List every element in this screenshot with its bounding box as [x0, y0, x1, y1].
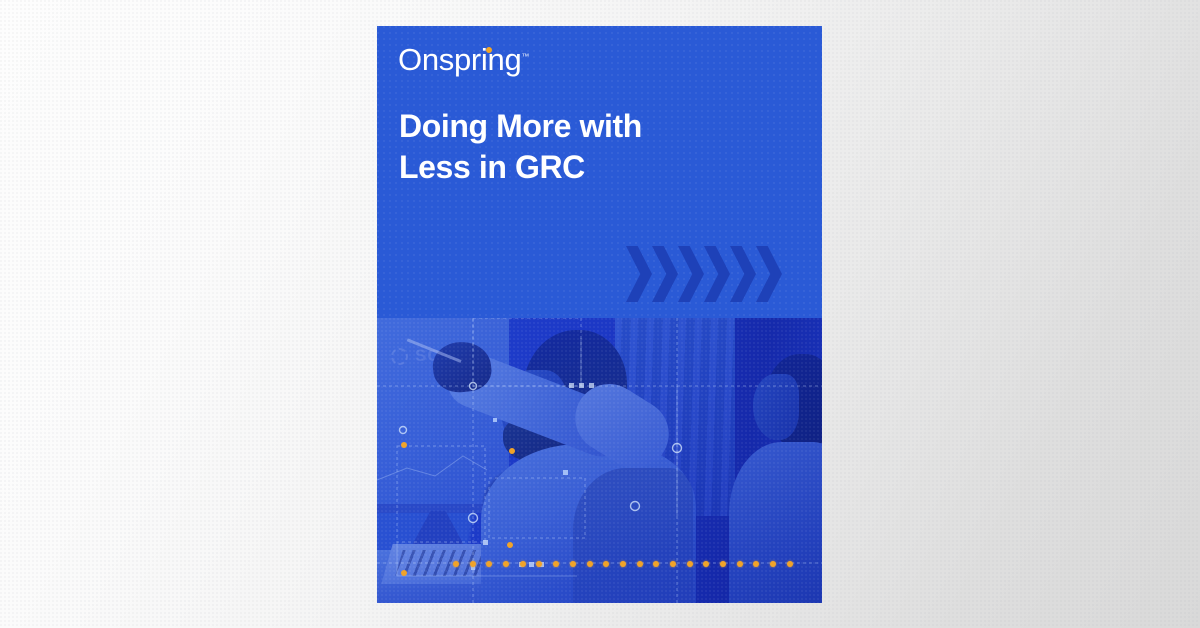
headline-line-1: Doing More with	[399, 106, 729, 147]
cover-photo-panel: SOC	[377, 318, 822, 603]
chevron-right-icon	[704, 246, 730, 302]
cover-header-panel: Onspring™ Doing More with Less in GRC	[377, 26, 822, 318]
logo-i-dot-icon	[486, 47, 493, 54]
onspring-logo: Onspring™	[398, 44, 529, 75]
ebook-cover-card[interactable]: Onspring™ Doing More with Less in GRC	[377, 26, 822, 603]
headline-line-2: Less in GRC	[399, 147, 729, 188]
chevron-right-icon	[626, 246, 652, 302]
trademark-symbol: ™	[521, 52, 529, 61]
chevron-right-icon	[678, 246, 704, 302]
chevron-right-icon	[652, 246, 678, 302]
logo-wordmark: Onspring	[398, 42, 521, 77]
chevron-right-icon	[730, 246, 756, 302]
chevron-arrows-graphic	[626, 246, 782, 302]
chevron-right-icon	[756, 246, 782, 302]
cover-headline: Doing More with Less in GRC	[399, 106, 729, 189]
photo-halftone-texture	[377, 318, 822, 603]
page-canvas: Onspring™ Doing More with Less in GRC	[0, 0, 1200, 628]
